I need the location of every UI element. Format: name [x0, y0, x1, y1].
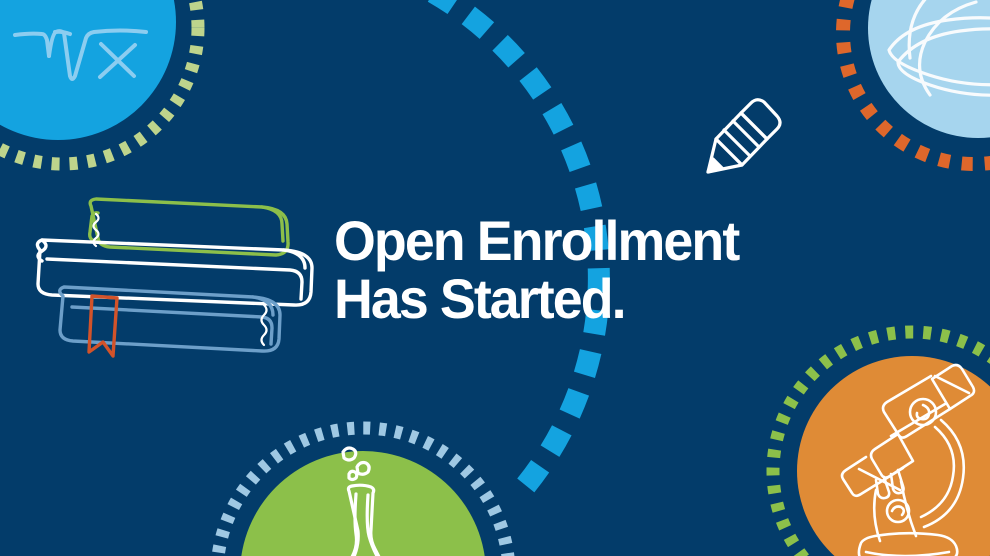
- open-enrollment-banner: Open Enrollment Has Started.: [0, 0, 990, 556]
- background-artwork: [0, 0, 990, 556]
